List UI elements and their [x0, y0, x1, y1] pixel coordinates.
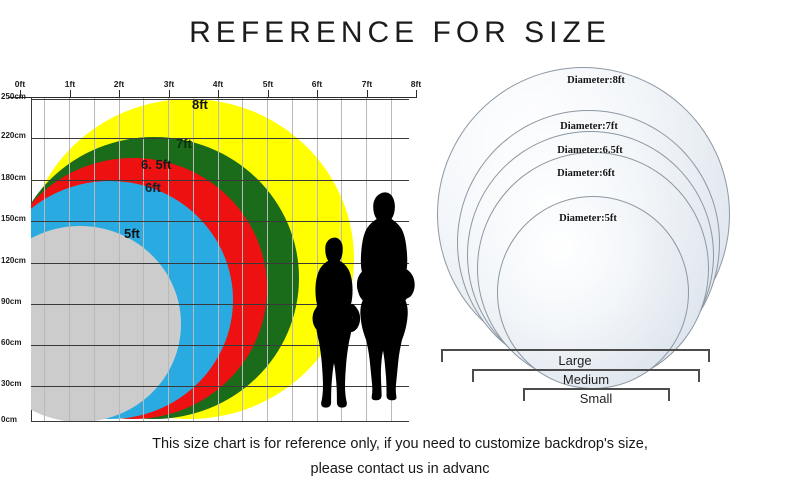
y-axis-label: 60cm [1, 338, 21, 347]
x-tick [119, 90, 120, 98]
gridline-v [193, 98, 194, 422]
x-tick [169, 90, 170, 98]
gridline-h [31, 138, 409, 139]
gridline-v [168, 98, 169, 422]
footer-note: This size chart is for reference only, i… [0, 432, 800, 482]
y-axis-label: 90cm [1, 297, 21, 306]
bracket-tick-right [668, 388, 670, 401]
disc-label-5ft: Diameter:5ft [559, 213, 617, 224]
bracket-bar [441, 349, 710, 351]
y-axis-label: 180cm [1, 173, 26, 182]
footer-line-2: please contact us in advanc [0, 457, 800, 482]
bracket-label-large: Large [558, 353, 591, 368]
disc-label-8ft: Diameter:8ft [567, 75, 625, 86]
gridline-v [94, 98, 95, 422]
x-axis-label: 5ft [263, 79, 273, 89]
x-axis-label: 8ft [411, 79, 421, 89]
disc-label-6ft: Diameter:6ft [557, 168, 615, 179]
size-label-5ft: 5ft [124, 226, 140, 241]
gridline-v [69, 98, 70, 422]
gridline-v [292, 98, 293, 422]
x-axis-label: 0ft [15, 79, 25, 89]
y-axis-label: 220cm [1, 131, 26, 140]
gridline-v [242, 98, 243, 422]
y-axis-label: 30cm [1, 379, 21, 388]
x-axis-label: 4ft [213, 79, 223, 89]
x-tick [70, 90, 71, 98]
y-axis-label: 250cm [1, 92, 26, 101]
bracket-tick-right [708, 349, 710, 362]
bracket-bar [523, 388, 670, 390]
gridline-v [143, 98, 144, 422]
bracket-tick-left [523, 388, 525, 401]
bracket-tick-left [472, 369, 474, 382]
x-axis-label: 2ft [114, 79, 124, 89]
gridline-v [218, 98, 219, 422]
x-axis-label: 3ft [164, 79, 174, 89]
size-label-7ft: 7ft [176, 136, 192, 151]
bracket-label-medium: Medium [563, 372, 609, 387]
child-silhouette [305, 226, 363, 421]
bracket-tick-left [441, 349, 443, 362]
x-axis-label: 7ft [362, 79, 372, 89]
x-tick [317, 90, 318, 98]
gridline-v [44, 98, 45, 422]
size-label-6ft: 6ft [145, 180, 161, 195]
page-title: REFERENCE FOR SIZE [0, 16, 800, 50]
x-tick [367, 90, 368, 98]
gridline-h [31, 99, 409, 100]
x-tick [268, 90, 269, 98]
size-label-6_5ft: 6. 5ft [141, 157, 171, 172]
bracket-tick-right [698, 369, 700, 382]
y-axis-label: 0cm [1, 415, 17, 424]
x-axis-label: 1ft [65, 79, 75, 89]
x-axis-label: 6ft [312, 79, 322, 89]
y-axis-label: 120cm [1, 256, 26, 265]
disc-label-7ft: Diameter:7ft [560, 121, 618, 132]
y-axis-label: 150cm [1, 214, 26, 223]
gridline-v [119, 98, 120, 422]
bracket-label-small: Small [580, 391, 613, 406]
bracket-bar [472, 369, 700, 371]
size-reference-chart: REFERENCE FOR SIZE [0, 0, 800, 488]
x-tick [218, 90, 219, 98]
gridline-v [267, 98, 268, 422]
footer-line-1: This size chart is for reference only, i… [0, 432, 800, 457]
x-tick [416, 90, 417, 98]
size-label-8ft: 8ft [192, 97, 208, 112]
disc-label-6_5ft: Diameter:6.5ft [557, 145, 623, 156]
